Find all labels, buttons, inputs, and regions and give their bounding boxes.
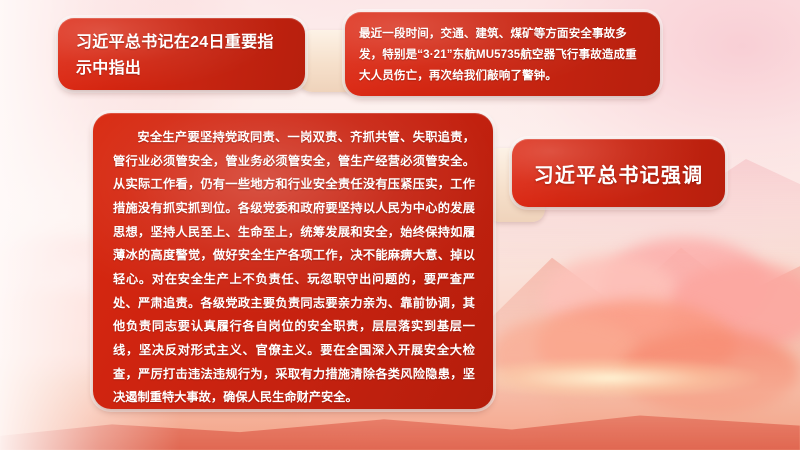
body-card-text: 安全生产要坚持党政同责、一岗双责、齐抓共管、失职追责，管行业必须管安全，管业务必… bbox=[113, 126, 475, 410]
intro-card: 最近一段时间，交通、建筑、煤矿等方面安全事故多发，特别是“3·21”东航MU57… bbox=[345, 12, 660, 96]
heading-card-text: 习近平总书记在24日重要指示中指出 bbox=[76, 30, 289, 82]
slide-canvas: 习近平总书记在24日重要指示中指出 最近一段时间，交通、建筑、煤矿等方面安全事故… bbox=[0, 0, 800, 450]
background-sun-glow bbox=[460, 358, 760, 398]
intro-card-text: 最近一段时间，交通、建筑、煤矿等方面安全事故多发，特别是“3·21”东航MU57… bbox=[359, 24, 646, 87]
emphasis-card-text: 习近平总书记强调 bbox=[534, 159, 704, 188]
heading-card: 习近平总书记在24日重要指示中指出 bbox=[58, 18, 305, 90]
emphasis-card: 习近平总书记强调 bbox=[512, 139, 725, 207]
body-card: 安全生产要坚持党政同责、一岗双责、齐抓共管、失职追责，管行业必须管安全，管业务必… bbox=[93, 113, 493, 409]
